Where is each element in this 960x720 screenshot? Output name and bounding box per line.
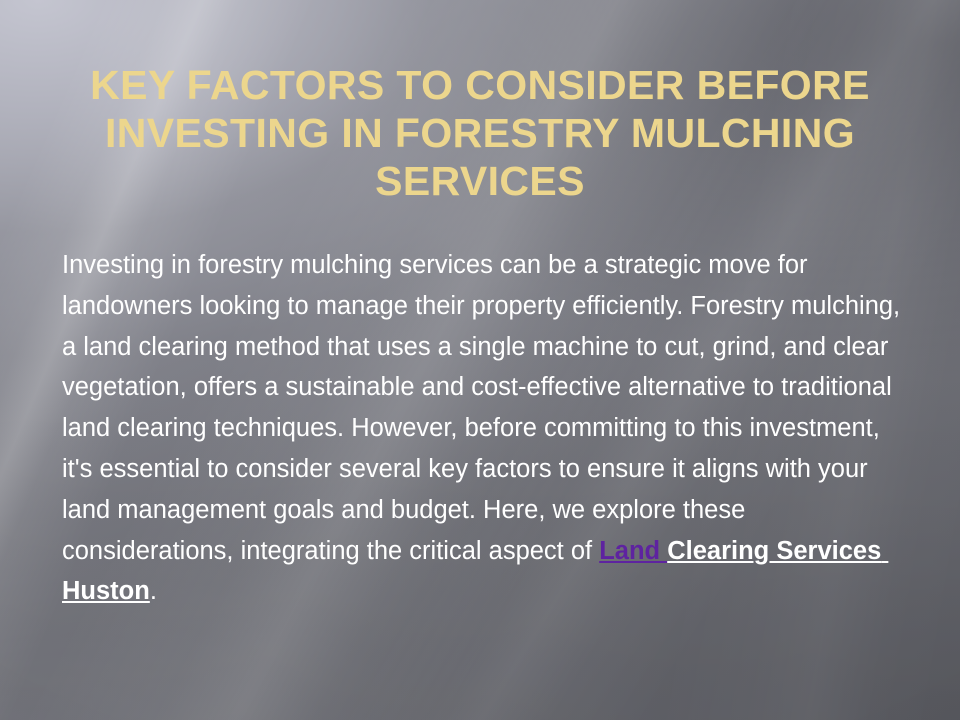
body-paragraph-tail: . <box>150 577 157 605</box>
slide-title: Key Factors to Consider Before Investing… <box>42 61 918 205</box>
body-paragraph-lead: Investing in forestry mulching services … <box>62 251 907 565</box>
land-clearing-link-purple-part[interactable]: Land <box>599 537 667 565</box>
slide-body: Investing in forestry mulching services … <box>62 245 912 612</box>
body-paragraph: Investing in forestry mulching services … <box>62 245 912 612</box>
presentation-slide: Key Factors to Consider Before Investing… <box>0 0 960 720</box>
slide-content: Key Factors to Consider Before Investing… <box>0 0 960 720</box>
